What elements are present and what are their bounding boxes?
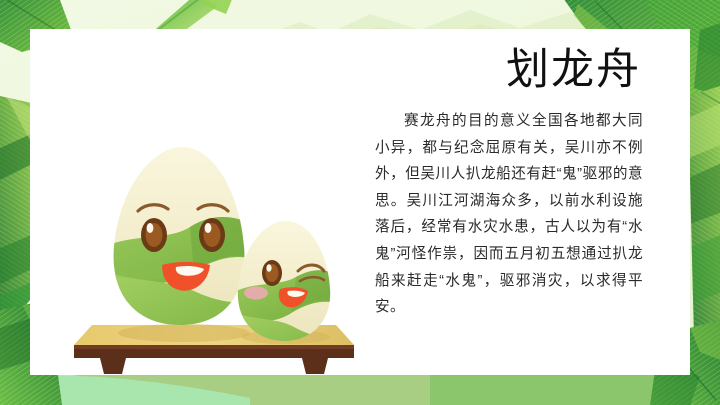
body-paragraph: 赛龙舟的目的意义全国各地都大同小异，都与纪念屈原有关，吴川亦不例外，但吴川人扒龙… — [375, 108, 643, 321]
blush — [244, 287, 268, 300]
large-zongzi — [100, 147, 260, 335]
text-column: 划龙舟 赛龙舟的目的意义全国各地都大同小异，都与纪念屈原有关，吴川亦不例外，但吴… — [375, 45, 643, 321]
page-title: 划龙舟 — [375, 45, 643, 95]
slide-canvas: 划龙舟 赛龙舟的目的意义全国各地都大同小异，都与纪念屈原有关，吴川亦不例外，但吴… — [0, 0, 720, 405]
content-card: 划龙舟 赛龙舟的目的意义全国各地都大同小异，都与纪念屈原有关，吴川亦不例外，但吴… — [30, 29, 690, 375]
zongzi-illustration — [64, 129, 364, 384]
